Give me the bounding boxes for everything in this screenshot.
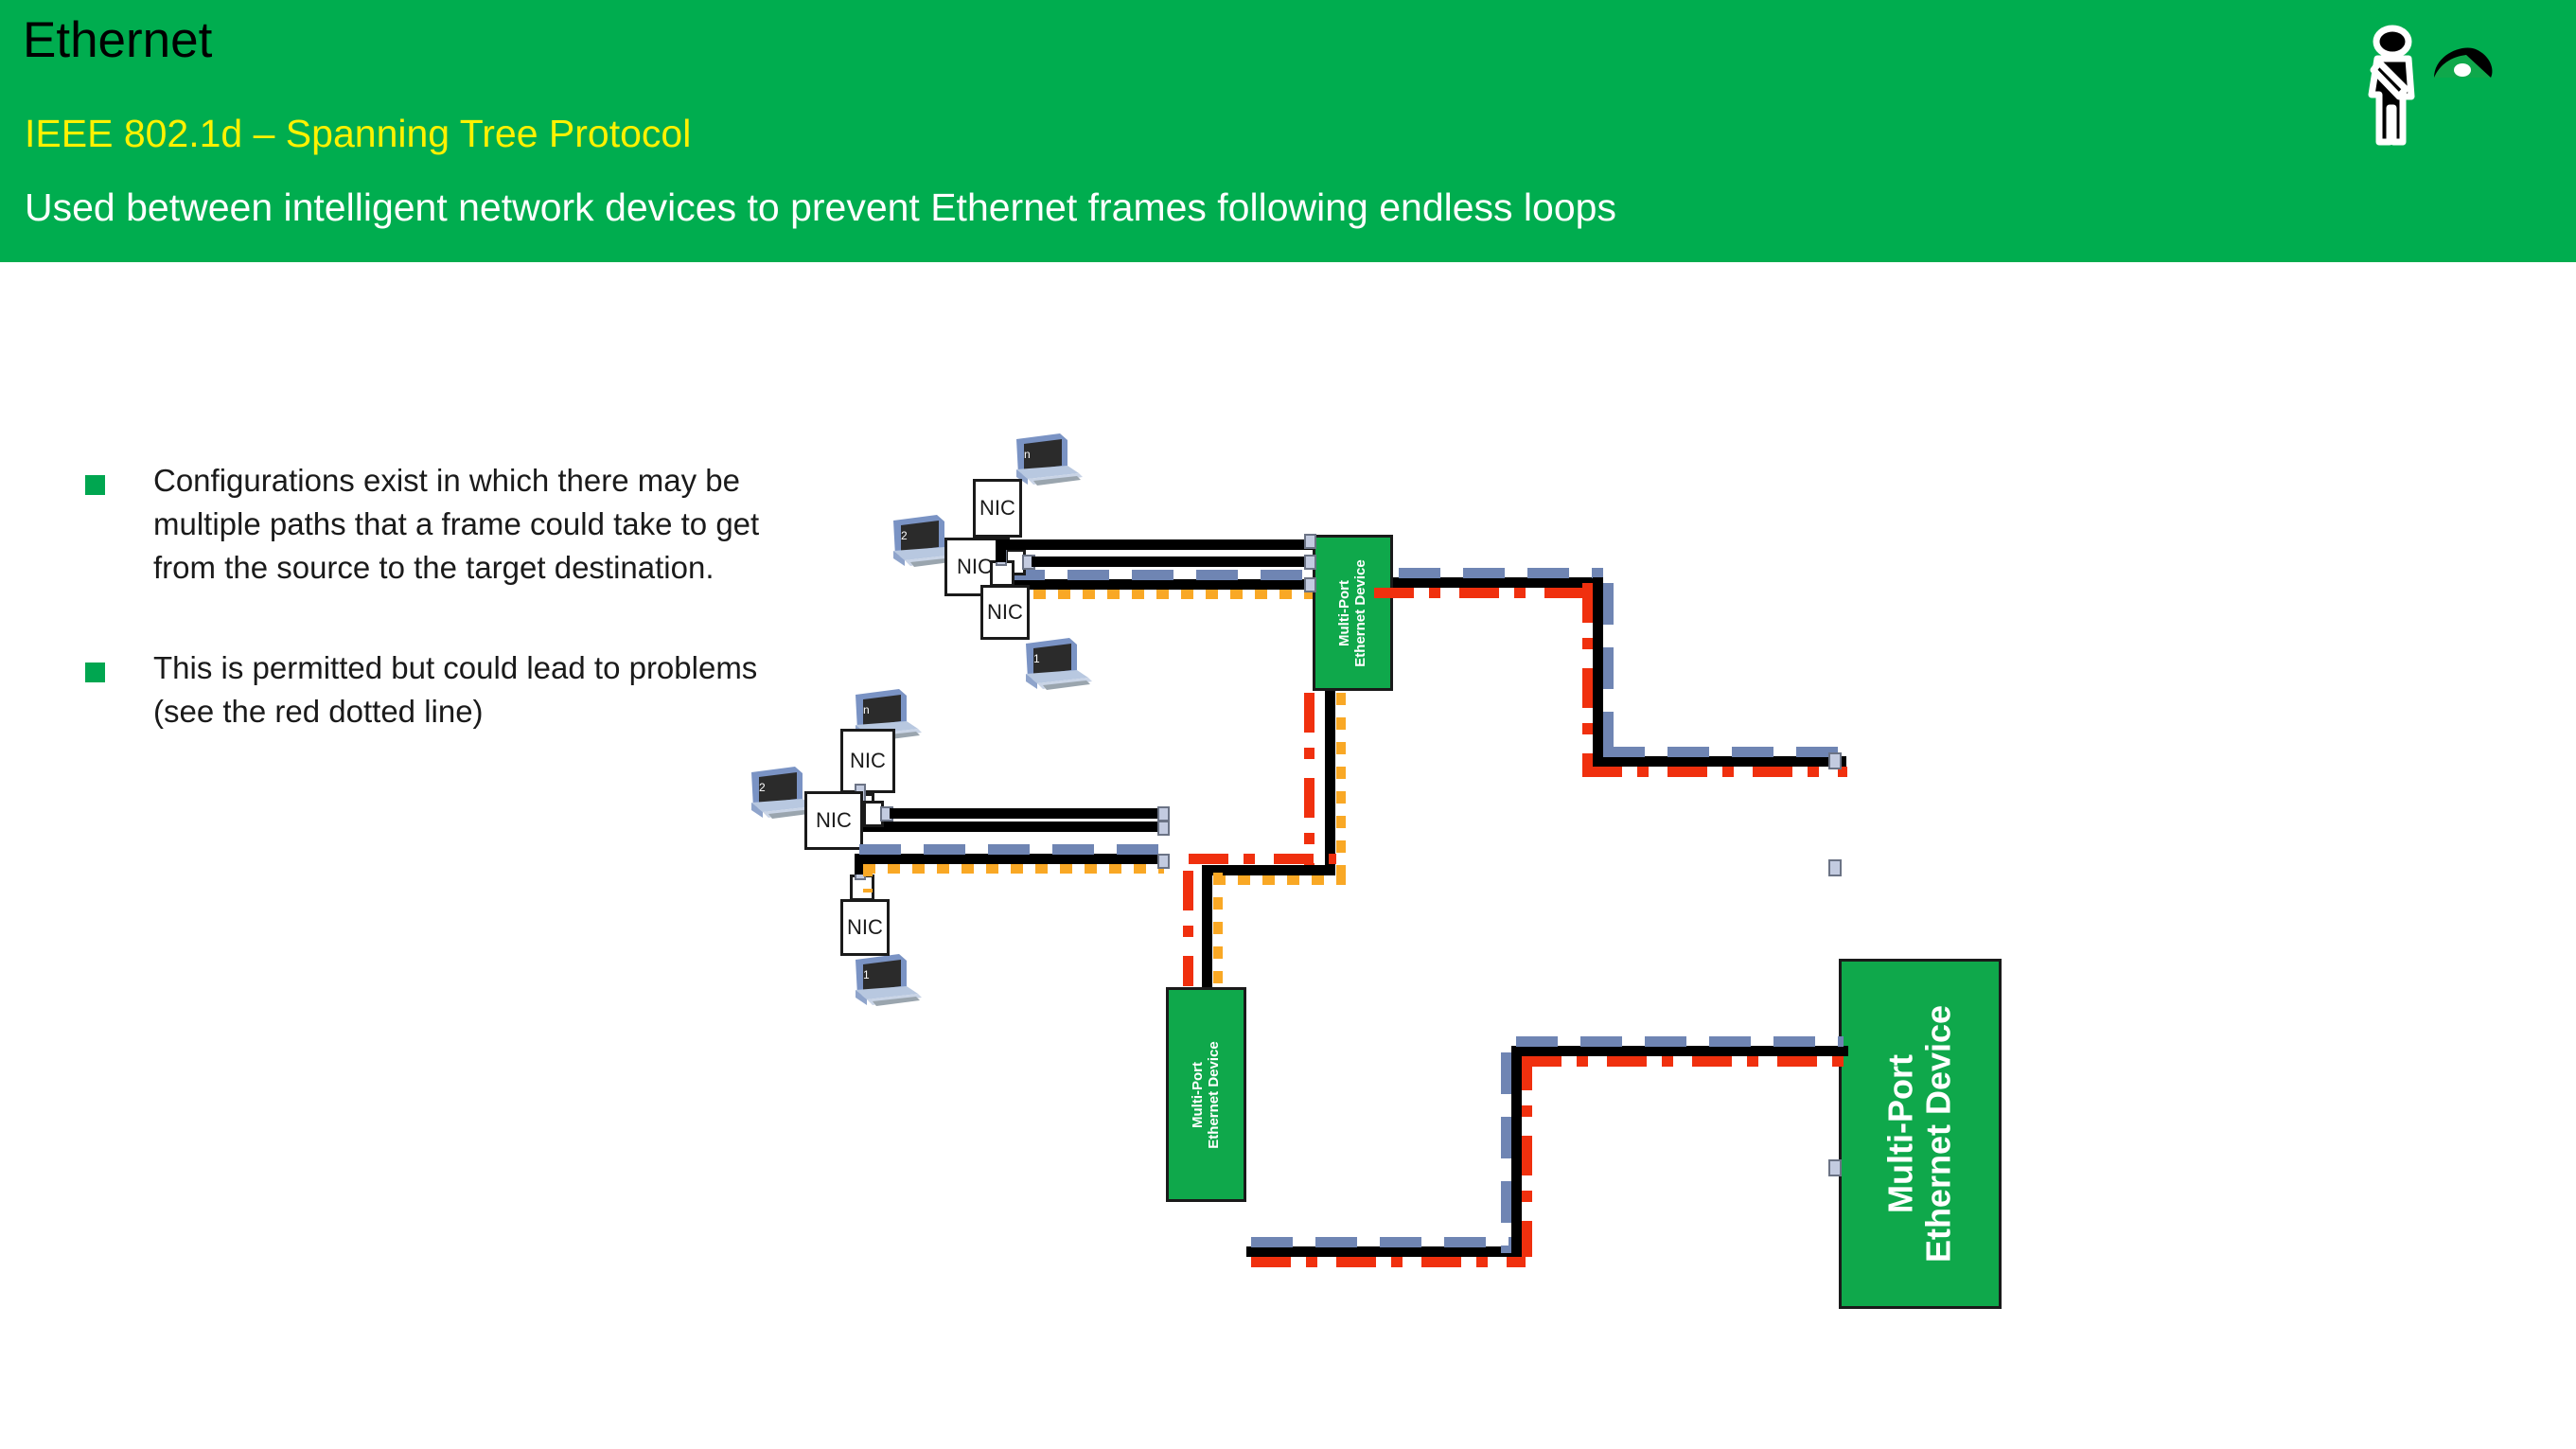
cable-top-n-horz (992, 579, 1314, 590)
trunk-top-h2-dashed (1603, 747, 1844, 757)
switch-label-line2: Ethernet Device (1919, 1005, 1958, 1263)
cable-top-1-horz (996, 539, 1314, 550)
inter-switch-h1-dotted (1213, 875, 1346, 885)
computer-label-2: 2 (759, 781, 766, 794)
nic-label: NIC (957, 555, 993, 579)
computer-label-n: n (1024, 448, 1031, 461)
nic-label: NIC (816, 808, 852, 833)
trunk-top-v1-dashdot (1582, 583, 1593, 772)
computer-label-1: 1 (1033, 652, 1040, 665)
trunk-bottom-h1-dashdot (1251, 1257, 1526, 1267)
switch-label-line2: Ethernet Device (1206, 1041, 1222, 1148)
page-subtitle: IEEE 802.1d – Spanning Tree Protocol (25, 110, 691, 157)
nic-label: NIC (850, 749, 886, 773)
computer-label-2: 2 (901, 529, 908, 542)
switch-top-port-1 (1304, 577, 1316, 592)
cable-bottom-1-horz (855, 854, 1167, 864)
switch-label: Multi-Port Ethernet Device (1191, 1041, 1223, 1148)
switch-bottom-port-1 (1157, 806, 1170, 822)
page-tagline: Used between intelligent network devices… (25, 184, 1616, 231)
switch-right-main[interactable]: Multi-Port Ethernet Device (1839, 959, 2002, 1309)
switch-bottom-port-0 (1157, 821, 1170, 836)
switch-top-port-2 (1304, 534, 1316, 549)
trunk-top-h2 (1593, 756, 1846, 767)
trunk-bottom-h2 (1511, 1046, 1848, 1056)
switch-bottom-port-2 (1157, 854, 1170, 869)
computer-label-1: 1 (863, 968, 870, 981)
nic-box-bottom-1: NIC (840, 899, 890, 956)
inter-switch-v1 (1325, 691, 1335, 875)
trunk-bottom-v1-dashed (1501, 1052, 1511, 1253)
nic-box-top-n: NIC (973, 479, 1022, 538)
switch-label: Multi-Port Ethernet Device (1337, 559, 1369, 666)
switch-label-line1: Multi-Port (1881, 1054, 1920, 1213)
path-c-top-n-dotted (984, 590, 1315, 599)
switch-label: Multi-Port Ethernet Device (1882, 1005, 1959, 1263)
inter-switch-h1-dashdot (1189, 854, 1336, 864)
trunk-top-h1-dashdot (1374, 588, 1605, 598)
cable-bottom-2 (890, 808, 1167, 819)
cable-top-2 (1032, 557, 1314, 567)
trunk-bottom-v1 (1511, 1046, 1522, 1257)
nic-box-bottom-n: NIC (840, 729, 895, 793)
trunk-top-h2-dashdot (1582, 767, 1847, 777)
switch-right-port-top (1828, 752, 1842, 769)
switch-label-line1: Multi-Port (1336, 580, 1352, 646)
page-title: Ethernet (23, 11, 212, 70)
cable-bottom-n-horz (855, 822, 1167, 832)
switch-label-line1: Multi-Port (1190, 1062, 1206, 1128)
inter-switch-v2-dashdot (1183, 871, 1193, 986)
path-a-top-n-dashed (1003, 570, 1315, 580)
switch-bottom-left[interactable]: Multi-Port Ethernet Device (1166, 987, 1246, 1202)
switch-top-port-0 (1304, 555, 1316, 570)
nic-label: NIC (979, 496, 1015, 521)
inter-switch-v1-dotted (1336, 693, 1346, 878)
inter-switch-v2 (1202, 865, 1212, 988)
network-topology-diagram: n NIC 2 NIC (0, 312, 2576, 1448)
switch-label-line2: Ethernet Device (1352, 559, 1368, 666)
trunk-top-h1 (1393, 577, 1603, 588)
trunk-bottom-h2-dashdot (1522, 1056, 1847, 1067)
path-a-bottom-1-dashed (859, 844, 1164, 855)
path-c-bottom-1-dotted (863, 864, 1164, 874)
trunk-bottom-h1-dashed (1251, 1237, 1520, 1247)
nic-box-top-1: NIC (980, 585, 1030, 640)
inter-switch-v1-dashdot (1304, 693, 1314, 873)
slide-header: Ethernet IEEE 802.1d – Spanning Tree Pro… (0, 0, 2576, 262)
trunk-top-v1 (1593, 577, 1603, 767)
computer-label-n: n (863, 703, 870, 716)
computer-icon-bottom-1: 1 (850, 952, 924, 1011)
trunk-top-h1-dashed (1399, 568, 1603, 578)
trunk-top-v1-dashed (1603, 583, 1614, 763)
path-c-bottom-1-dotted-vert (863, 864, 873, 892)
switch-top-left[interactable]: Multi-Port Ethernet Device (1313, 535, 1393, 691)
nic-box-bottom-2: NIC (804, 791, 863, 850)
nic-label: NIC (847, 915, 883, 940)
computer-icon-top-1: 1 (1020, 636, 1094, 695)
trunk-bottom-v1-dashdot (1522, 1051, 1532, 1257)
switch-right-port-mid (1828, 859, 1842, 876)
inter-switch-v2-dotted (1213, 873, 1223, 988)
nic-label: NIC (987, 600, 1023, 625)
trunk-bottom-h1 (1246, 1246, 1522, 1257)
person-and-telephone-logo (2364, 21, 2544, 153)
slide: Ethernet IEEE 802.1d – Spanning Tree Pro… (0, 0, 2576, 1449)
switch-right-port-bottom (1828, 1159, 1842, 1176)
trunk-bottom-h2-dashed (1516, 1036, 1844, 1047)
